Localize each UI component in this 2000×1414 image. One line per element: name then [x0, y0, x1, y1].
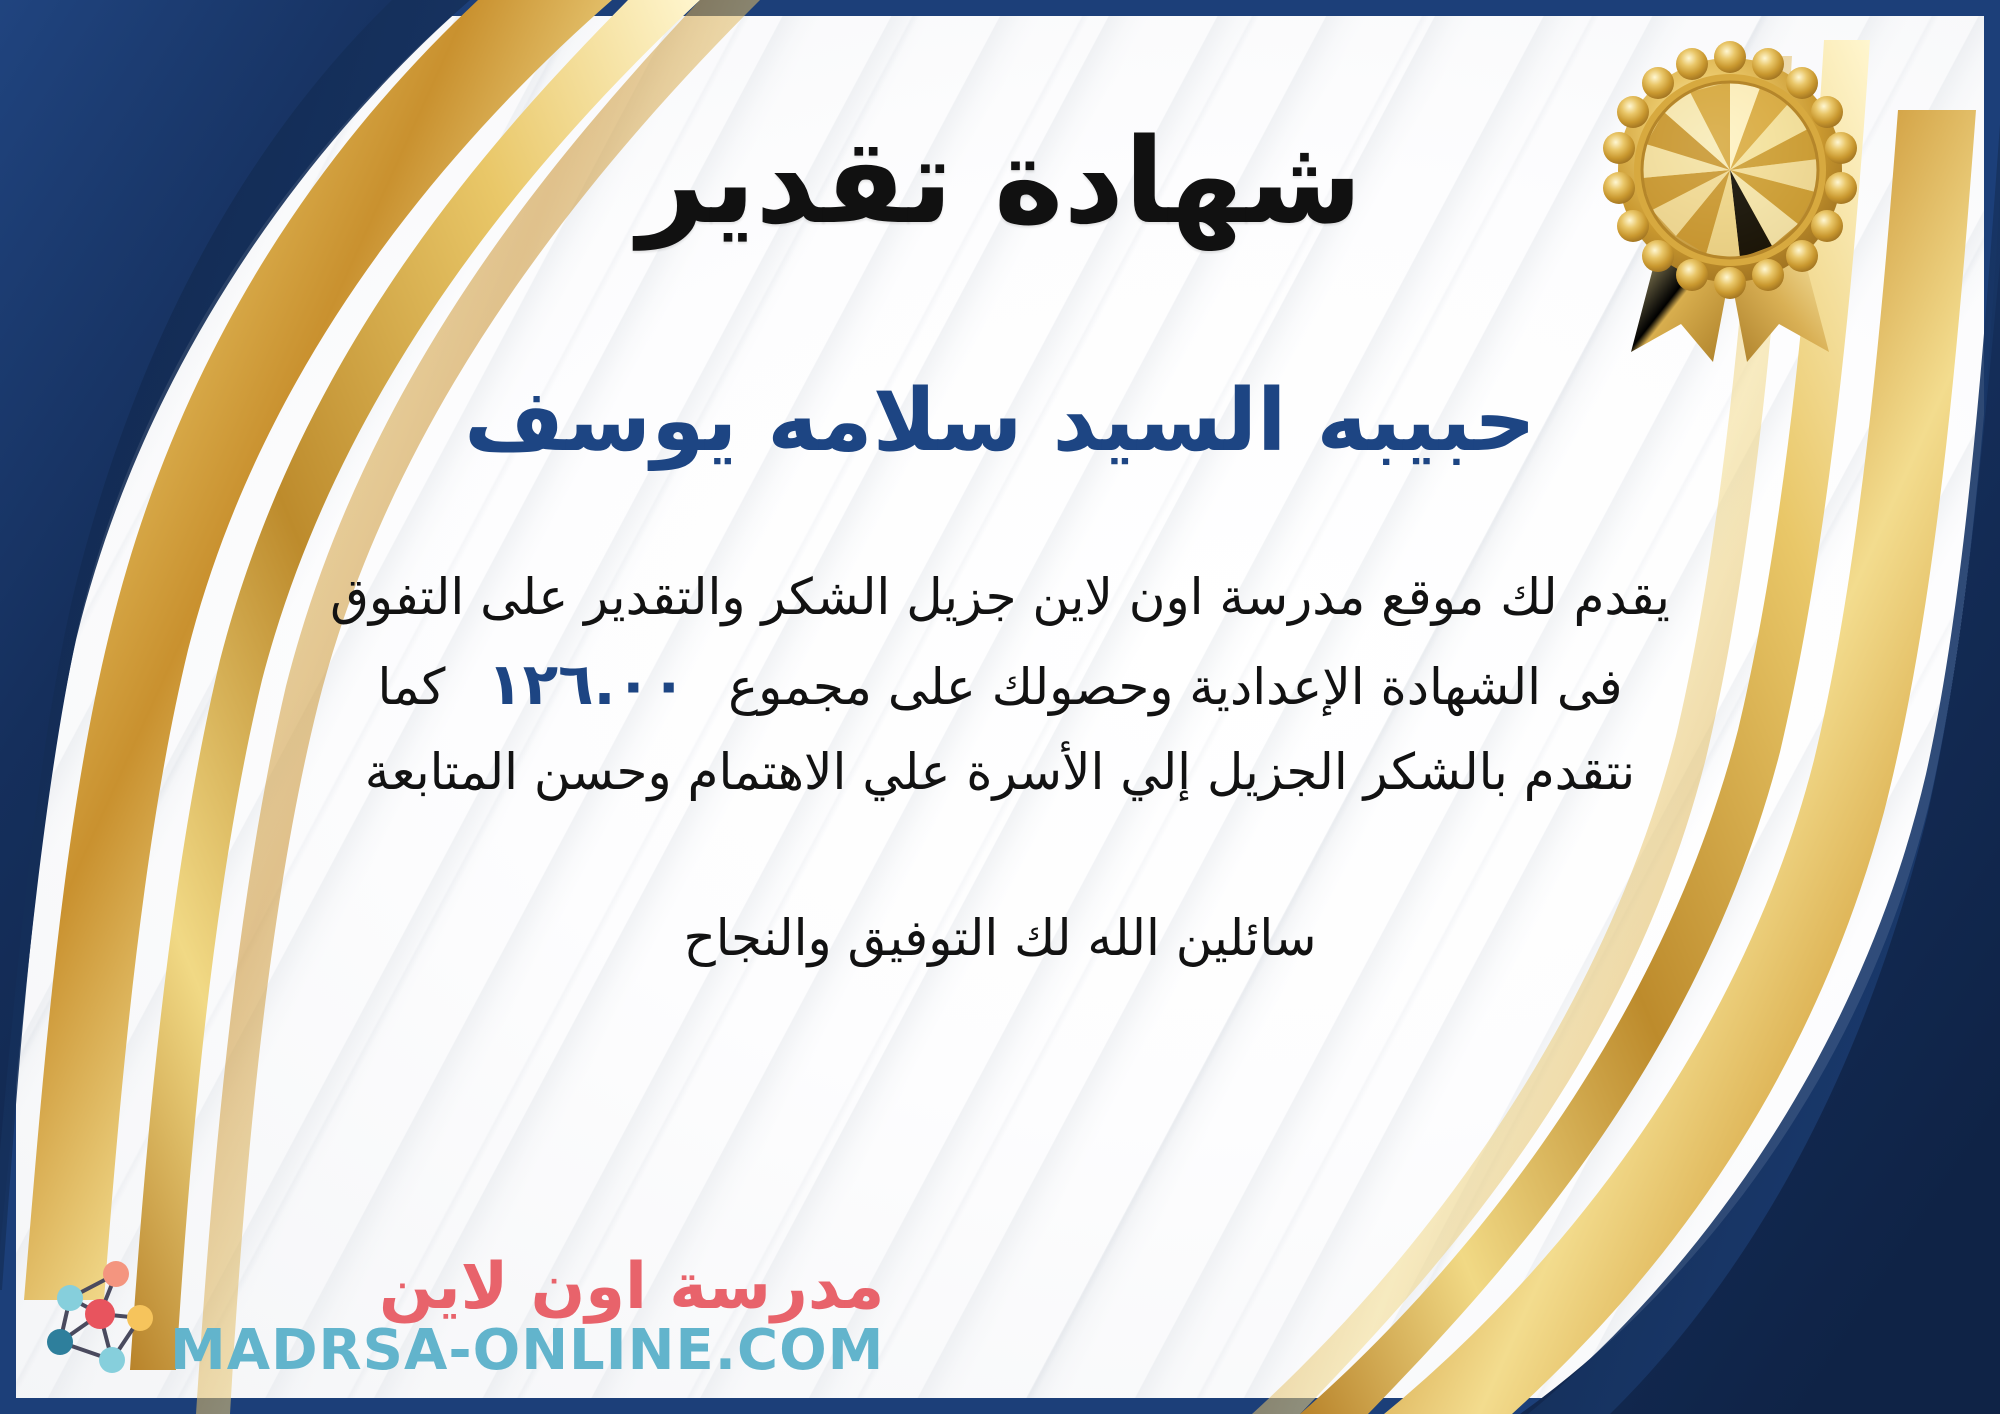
certificate-page: شهادة تقدير حبيبه السيد سلامه يوسف يقدم … — [0, 0, 2000, 1414]
brand-website-url: MADRSA-ONLINE.COM — [170, 1323, 884, 1379]
gold-rosette-medal-icon — [1585, 40, 1875, 370]
body-line-2-prefix: فى الشهادة الإعدادية وحصولك على مجموع — [728, 658, 1622, 716]
recipient-name: حبيبه السيد سلامه يوسف — [464, 372, 1536, 471]
body-line-3: نتقدم بالشكر الجزيل إلي الأسرة علي الاهت… — [120, 732, 1880, 813]
brand-arabic-name: مدرسة اون لاين — [379, 1255, 884, 1319]
body-line-2-suffix: كما — [377, 658, 445, 716]
grade-total-value: ١٢٦.٠٠ — [487, 650, 686, 718]
body-line-1: يقدم لك موقع مدرسة اون لاين جزيل الشكر و… — [120, 557, 1880, 638]
certificate-body-text: يقدم لك موقع مدرسة اون لاين جزيل الشكر و… — [120, 557, 1880, 813]
body-line-2: فى الشهادة الإعدادية وحصولك على مجموع ١٢… — [120, 638, 1880, 732]
network-nodes-icon — [30, 1252, 160, 1382]
page-title: شهادة تقدير — [638, 120, 1363, 244]
brand-logo[interactable]: مدرسة اون لاين MADRSA-ONLINE.COM — [30, 1252, 884, 1382]
brand-text-block: مدرسة اون لاين MADRSA-ONLINE.COM — [170, 1255, 884, 1379]
closing-wish-text: سائلين الله لك التوفيق والنجاح — [683, 909, 1316, 967]
